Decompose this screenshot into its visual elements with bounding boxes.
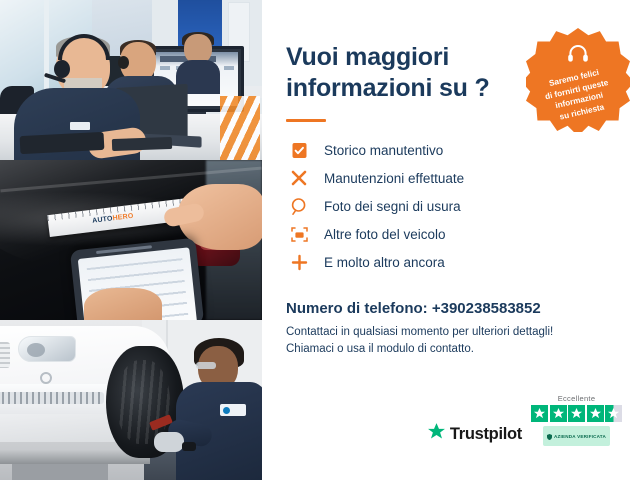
title-divider [286, 119, 326, 122]
call-center-agents-photo [0, 0, 262, 160]
verified-company-label: AZIENDA VERIFICATA [554, 434, 606, 439]
list-item: Manutenzioni effettuate [286, 164, 618, 192]
hand-holding-tablet-decor [84, 288, 162, 320]
page-title: Vuoi maggiori informazioni su ? [286, 42, 536, 103]
trustpilot-rating-group: Eccellente AZIENDA VERIFICATA [531, 394, 622, 446]
phone-line: Numero di telefono: +390238583852 [286, 300, 618, 317]
keyboard-secondary-decor [112, 137, 172, 151]
list-item-label: Storico manutentivo [324, 143, 443, 158]
star-filled-icon [550, 405, 567, 422]
list-item-label: Foto dei segni di usura [324, 199, 461, 214]
trustpilot-wordmark: Trustpilot [450, 425, 522, 444]
star-filled-icon [587, 405, 604, 422]
feature-list: Storico manutentivo Manutenzioni effettu… [286, 136, 618, 276]
list-item-label: Altre foto del veicolo [324, 227, 446, 242]
lift-leg-decor [12, 462, 108, 480]
headline-line-2: informazioni su ? [286, 73, 536, 104]
headset-icon [567, 44, 589, 69]
checkbox-checked-icon [286, 137, 312, 163]
contact-subtext: Contattaci in qualsiasi momento per ulte… [286, 324, 618, 359]
headline-line-1: Vuoi maggiori [286, 42, 536, 73]
shield-check-icon [547, 427, 552, 445]
promo-banner: AUTOHERO [0, 0, 640, 480]
magnifier-icon [286, 193, 312, 219]
verified-company-badge: AZIENDA VERIFICATA [543, 426, 610, 446]
list-item: Storico manutentivo [286, 136, 618, 164]
list-item-label: Manutenzioni effettuate [324, 171, 464, 186]
content-panel: Vuoi maggiori informazioni su ? Storico … [262, 0, 640, 480]
photo-column: AUTOHERO [0, 0, 262, 480]
mechanic-figure [176, 338, 262, 480]
contact-block: Numero di telefono: +390238583852 Contat… [286, 300, 618, 359]
plus-icon [286, 249, 312, 275]
list-item-label: E molto altro ancora [324, 255, 445, 270]
status-badge: Saremo felici di fornirti queste informa… [526, 28, 630, 132]
trustpilot-logo: Trustpilot [427, 422, 522, 446]
trustpilot-widget[interactable]: Trustpilot Eccellente AZIENDA VERIFICATA [427, 394, 622, 446]
vehicle-inspection-ruler-photo: AUTOHERO [0, 160, 262, 320]
contact-subtext-line-2: Chiamaci o usa il modulo di contatto. [286, 341, 618, 358]
rating-label: Eccellente [558, 394, 596, 403]
list-item: Foto dei segni di usura [286, 192, 618, 220]
star-half-icon [605, 405, 622, 422]
photo-frame-icon [286, 221, 312, 247]
mechanic-wheel-check-photo [0, 320, 262, 480]
phone-label: Numero di telefono: [286, 300, 428, 317]
agent-three-figure [176, 34, 220, 80]
contact-subtext-line-1: Contattaci in qualsiasi momento per ulte… [286, 324, 618, 341]
phone-number[interactable]: +390238583852 [432, 300, 541, 317]
star-rating [531, 405, 622, 422]
list-item: E molto altro ancora [286, 248, 618, 276]
banner-stripes-decor [220, 96, 260, 160]
tools-cross-icon [286, 165, 312, 191]
trustpilot-star-icon [427, 422, 446, 446]
star-filled-icon [568, 405, 585, 422]
star-filled-icon [531, 405, 548, 422]
list-item: Altre foto del veicolo [286, 220, 618, 248]
